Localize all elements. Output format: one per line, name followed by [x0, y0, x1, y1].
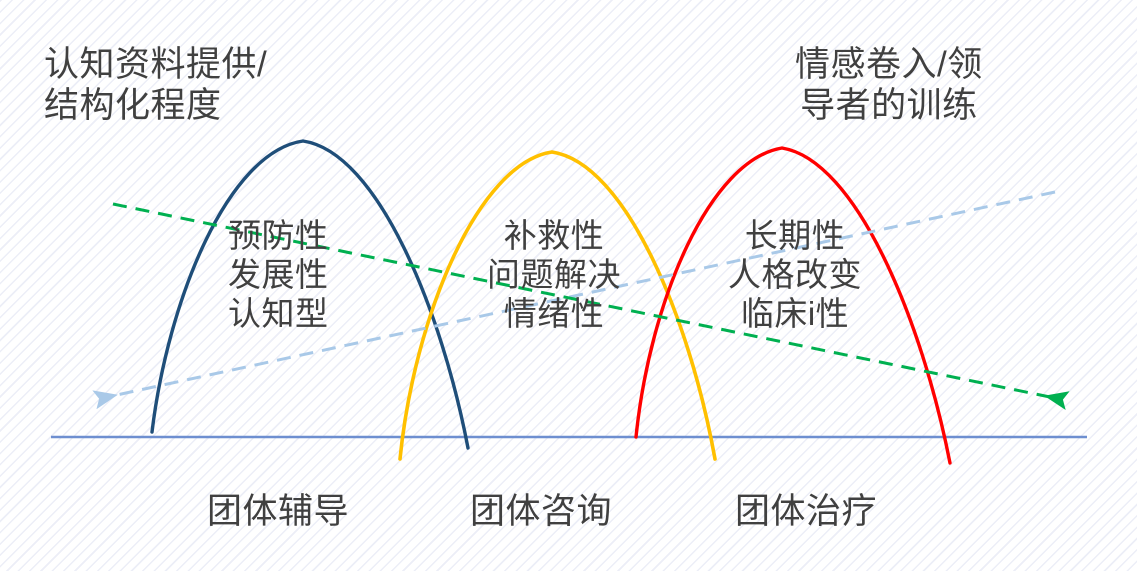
bottom-label-group-counseling: 团体咨询 [470, 491, 612, 532]
curve-label-group-therapy: 长期性 人格改变 临床i性 [728, 217, 862, 334]
curve-label-group-guidance: 预防性 发展性 认知型 [228, 217, 329, 334]
axis-title-left: 认知资料提供/ 结构化程度 [44, 44, 267, 127]
bottom-label-group-therapy: 团体治疗 [735, 491, 877, 532]
axis-title-right: 情感卷入/领 导者的训练 [795, 44, 983, 127]
curve-label-group-counseling: 补救性 问题解决 情绪性 [487, 217, 621, 334]
diagram-canvas: 认知资料提供/ 结构化程度 情感卷入/领 导者的训练 预防性 发展性 认知型 补… [0, 0, 1137, 571]
bottom-label-group-guidance: 团体辅导 [207, 491, 349, 532]
